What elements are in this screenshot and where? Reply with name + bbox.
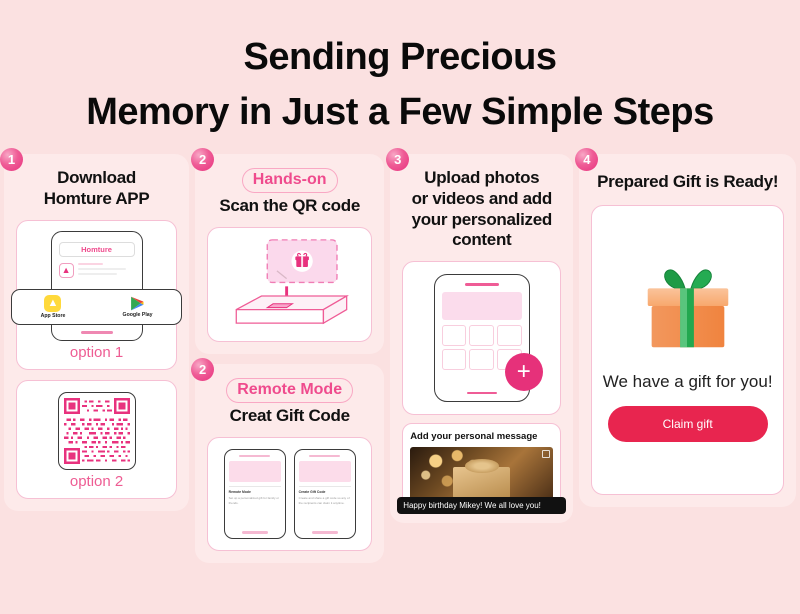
gift-ready-card: We have a gift for you! Claim gift (591, 205, 784, 495)
line-accent (78, 263, 104, 266)
option-2-label: option 2 (25, 473, 168, 490)
google-play-label: Google Play (123, 312, 153, 318)
app-store-icon: ▲ (44, 295, 61, 312)
photo-cell[interactable] (442, 349, 467, 370)
phone-mockup-upload: + (434, 274, 530, 402)
step-column-4: 4 Prepared Gift is Ready! (579, 154, 796, 507)
scan-gift-box-illustration (216, 236, 363, 328)
option-2-card: option 2 (16, 380, 177, 499)
mini-phone-2-home (312, 531, 338, 533)
steps-container: 1 Download Homture APP Homture ▲ (0, 140, 800, 562)
remote-phones: Remote Mode Set up a personalized gift f… (216, 446, 363, 542)
page-title: Sending Precious Memory in Just a Few Si… (0, 0, 800, 140)
mini-phone-2: Create Gift Code Create and share a gift… (294, 449, 356, 539)
personal-message-title: Add your personal message (410, 431, 553, 442)
claim-gift-button[interactable]: Claim gift (608, 406, 768, 442)
app-store-label: App Store (41, 313, 66, 319)
step-3-title-line-4: content (402, 230, 561, 251)
option-1-card: Homture ▲ ▲ A (16, 220, 177, 370)
step-column-1: 1 Download Homture APP Homture ▲ (4, 154, 189, 510)
photo-cell[interactable] (469, 349, 494, 370)
gift-photo-bow (465, 459, 499, 473)
headline-line-1: Sending Precious (244, 36, 557, 78)
plus-icon[interactable]: + (505, 353, 543, 391)
app-result-lines (78, 263, 135, 278)
phone3-hero-image (442, 292, 522, 320)
google-play-icon (129, 296, 146, 311)
divider-1 (229, 486, 281, 487)
step-3-panel: 3 Upload photos or videos and add your p… (390, 154, 573, 523)
mini-phone-1-topbar (239, 455, 270, 458)
mini-phone-1: Remote Mode Set up a personalized gift f… (224, 449, 286, 539)
photo-cell[interactable] (442, 325, 467, 346)
step-1-title: Download Homture APP (16, 168, 177, 209)
step-1-panel: 1 Download Homture APP Homture ▲ (4, 154, 189, 510)
phone3-home-indicator (467, 392, 497, 395)
qr-code (64, 398, 130, 464)
remote-mode-card: Remote Mode Set up a personalized gift f… (207, 437, 372, 551)
headline-line-2: Memory in Just a Few Simple Steps (0, 85, 800, 140)
scan-illustration-card (207, 227, 372, 342)
mini-phone-2-heading: Create Gift Code (299, 490, 351, 494)
mini-phone-2-body: Create and share a gift code so any of t… (299, 496, 351, 505)
step-column-3: 3 Upload photos or videos and add your p… (390, 154, 573, 523)
qr-code-wrapper[interactable] (58, 392, 136, 470)
mini-phone-1-home (242, 531, 268, 533)
line-gray-1 (78, 268, 126, 271)
message-caption[interactable]: Happy birthday Mikey! We all love you! (397, 497, 566, 514)
step-column-2: 2 Hands-on Scan the QR code (195, 154, 384, 562)
remote-mode-pill: Remote Mode (226, 378, 353, 403)
step-1-title-line-2: Homture APP (16, 189, 177, 210)
mini-phone-2-topbar (309, 455, 340, 458)
phone3-topbar (465, 283, 499, 286)
step-4-title: Prepared Gift is Ready! (591, 168, 784, 193)
step-2-hands-on-panel: 2 Hands-on Scan the QR code (195, 154, 384, 354)
gift-photo (410, 447, 553, 501)
app-search-field[interactable]: Homture (59, 242, 135, 257)
step-2-remote-mode-panel: 2 Remote Mode Creat Gift Code Remote Mod… (195, 364, 384, 563)
upload-phone-card: + (402, 261, 561, 415)
step-2b-title: Creat Gift Code (207, 406, 372, 427)
homture-app-icon: ▲ (59, 263, 74, 278)
mini-phone-1-heading: Remote Mode (229, 490, 281, 494)
home-indicator (81, 331, 113, 334)
step-3-title-line-3: your personalized (402, 210, 561, 231)
divider-2 (299, 486, 351, 487)
photo-cell[interactable] (497, 325, 522, 346)
step-number-badge-2a: 2 (191, 148, 214, 171)
step-3-title-line-2: or videos and add (402, 189, 561, 210)
step-2-title: Scan the QR code (207, 196, 372, 217)
photo-badge-icon (542, 450, 550, 458)
google-play-button[interactable]: Google Play (123, 296, 153, 318)
app-result-row: ▲ (59, 263, 135, 278)
mini-phone-2-image (299, 461, 351, 482)
personal-message-card: Add your personal message Happy birthday… (402, 423, 561, 511)
mini-phone-1-body: Set up a personalized gift for family or… (229, 496, 281, 505)
store-buttons-bar: ▲ App Store (11, 289, 182, 325)
gift-ready-text: We have a gift for you! (603, 372, 773, 392)
step-number-badge-2b: 2 (191, 358, 214, 381)
step-3-title: Upload photos or videos and add your per… (402, 168, 561, 251)
step-1-title-line-1: Download (16, 168, 177, 189)
option-1-label: option 1 (25, 344, 168, 361)
mini-phone-1-image (229, 461, 281, 482)
gift-box-icon (634, 258, 742, 358)
step-3-title-line-1: Upload photos (402, 168, 561, 189)
line-gray-2 (78, 273, 118, 276)
photo-cell[interactable] (469, 325, 494, 346)
hands-on-pill: Hands-on (242, 168, 338, 193)
app-store-button[interactable]: ▲ App Store (41, 295, 66, 319)
step-4-panel: 4 Prepared Gift is Ready! (579, 154, 796, 507)
